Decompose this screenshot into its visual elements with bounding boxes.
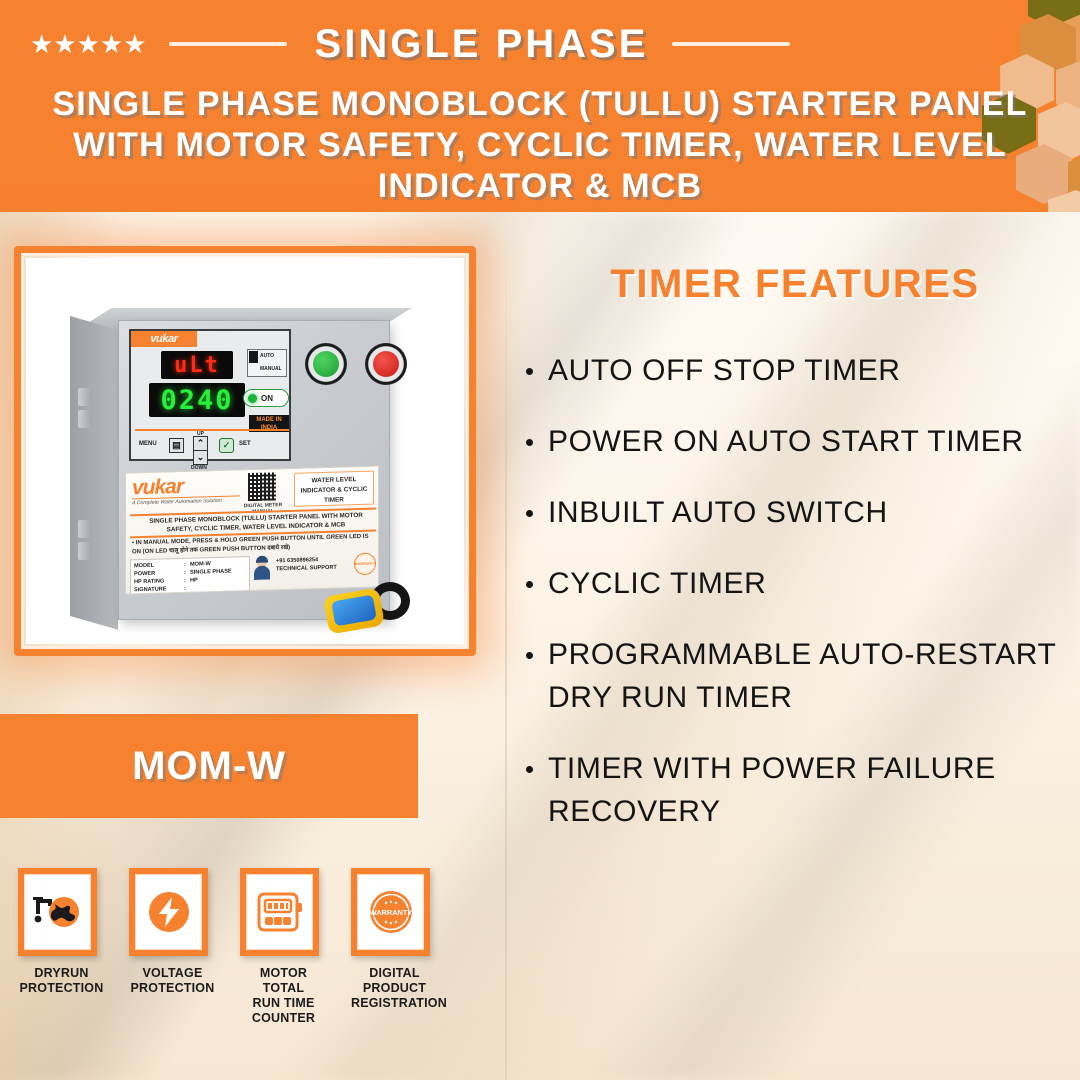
- feature-item-runtime: MOTORTOTALRUN TIMECOUNTER: [240, 868, 327, 1026]
- up-button[interactable]: ⌃: [193, 436, 208, 451]
- feature-item-registration: WARRANTY DIGITALPRODUCTREGISTRATION: [351, 868, 438, 1026]
- sticker-warranty-seal-icon: WARRANTY: [354, 553, 376, 576]
- menu-button-label: MENU: [139, 441, 157, 447]
- controller-brand-logo: vukar: [131, 331, 197, 347]
- green-led-icon: [248, 394, 257, 403]
- protection-features-row: DRYRUNPROTECTION VOLTAGEPROTECTION: [18, 868, 498, 1026]
- qr-code-icon[interactable]: [248, 472, 276, 501]
- model-name-label: MOM-W: [132, 744, 286, 789]
- on-indicator-label: ON: [261, 394, 273, 403]
- switch-knob-icon: [249, 351, 258, 363]
- list-item: CYCLIC TIMER: [520, 562, 1070, 605]
- svg-text:WARRANTY: WARRANTY: [369, 908, 412, 917]
- rating-stars-icon: ★★★★★: [30, 31, 147, 57]
- stop-push-button-red[interactable]: [365, 343, 407, 385]
- list-item: POWER ON AUTO START TIMER: [520, 420, 1070, 463]
- header-rule-left: [169, 42, 287, 46]
- runtime-label: MOTORTOTALRUN TIMECOUNTER: [240, 966, 327, 1026]
- start-push-button-green[interactable]: [305, 343, 347, 385]
- value-display-green: 0240: [149, 383, 245, 417]
- auto-manual-switch[interactable]: AUTO MANUAL: [247, 349, 287, 377]
- product-photo: vukar uLt 0240 AUTO MANUAL ON MADE IN IN…: [26, 258, 464, 644]
- feature-item-dryrun: DRYRUNPROTECTION: [18, 868, 105, 1026]
- header-rule-right: [672, 42, 790, 46]
- sticker-brand-name: vukar: [132, 474, 240, 498]
- green-button-cap-icon: [313, 351, 339, 377]
- switch-label-manual: MANUAL: [260, 366, 282, 373]
- warranty-badge-icon: WARRANTY: [367, 888, 415, 936]
- header-banner: ★★★★★ SINGLE PHASE SINGLE PHASE MONOBLOC…: [0, 0, 1080, 212]
- sticker-spec-table: MODEL:MOM-W POWER:SINGLE PHASE HP RATING…: [130, 556, 250, 594]
- float-switch-accessory: [326, 576, 412, 636]
- set-button-label: SET: [239, 441, 251, 447]
- poster-canvas: ★★★★★ SINGLE PHASE SINGLE PHASE MONOBLOC…: [0, 0, 1080, 1080]
- spec-value: HP: [190, 577, 198, 585]
- controller-faceplate: vukar uLt 0240 AUTO MANUAL ON MADE IN IN…: [129, 329, 291, 461]
- sticker-feature-badge: WATER LEVEL INDICATOR & CYCLIC TIMER: [294, 471, 374, 507]
- run-time-meter-icon: [255, 890, 305, 934]
- menu-button[interactable]: ▤: [169, 438, 184, 453]
- voltage-label: VOLTAGEPROTECTION: [129, 966, 216, 996]
- features-column: TIMER FEATURES AUTO OFF STOP TIMER POWER…: [520, 262, 1070, 861]
- support-info: +91 6350896254 TECHNICAL SUPPORT: [276, 555, 354, 573]
- dryrun-tap-globe-icon: [32, 892, 84, 932]
- down-button[interactable]: ⌄: [193, 450, 208, 465]
- controller-divider: [135, 429, 289, 431]
- set-button[interactable]: ✓: [219, 438, 234, 453]
- header-top-row: ★★★★★ SINGLE PHASE: [0, 16, 1080, 72]
- list-item: TIMER WITH POWER FAILURE RECOVERY: [520, 747, 1070, 833]
- voltage-bolt-icon: [146, 889, 192, 935]
- spec-key: SIGNATURE: [134, 585, 184, 594]
- registration-tile: WARRANTY: [351, 868, 430, 956]
- spec-colon: :: [184, 585, 190, 593]
- model-name-banner: MOM-W: [0, 714, 418, 818]
- list-item: AUTO OFF STOP TIMER: [520, 349, 1070, 392]
- support-agent-icon: [252, 555, 272, 580]
- features-list: AUTO OFF STOP TIMER POWER ON AUTO START …: [520, 349, 1070, 833]
- product-image-frame: vukar uLt 0240 AUTO MANUAL ON MADE IN IN…: [14, 246, 476, 656]
- dryrun-tile: [18, 868, 97, 956]
- column-divider: [505, 230, 507, 1080]
- support-label: TECHNICAL SUPPORT: [276, 563, 354, 573]
- table-row: SIGNATURE:: [134, 583, 246, 594]
- voltage-tile: [129, 868, 208, 956]
- controller-button-row: MENU ▤ UP ⌃ ⌄ DOWN ✓ SET: [137, 435, 287, 461]
- header-subtitle: SINGLE PHASE MONOBLOCK (TULLU) STARTER P…: [0, 84, 1080, 207]
- registration-label: DIGITALPRODUCTREGISTRATION: [351, 966, 438, 1011]
- status-display-red: uLt: [161, 351, 233, 379]
- red-button-cap-icon: [373, 351, 399, 377]
- enclosure-hinge-upper: [78, 388, 91, 406]
- list-item: PROGRAMMABLE AUTO-RESTART DRY RUN TIMER: [520, 633, 1070, 719]
- switch-label-auto: AUTO: [260, 353, 274, 360]
- header-eyebrow-title: SINGLE PHASE: [315, 22, 649, 67]
- enclosure-hinge-lower-2: [78, 542, 91, 560]
- spec-value: SINGLE PHASE: [190, 568, 232, 577]
- enclosure-front-door: vukar uLt 0240 AUTO MANUAL ON MADE IN IN…: [118, 320, 390, 620]
- enclosure-side-face: [70, 316, 118, 630]
- runtime-tile: [240, 868, 319, 956]
- sticker-logo: vukar A Complete Water Automation Soluti…: [132, 474, 240, 506]
- dryrun-label: DRYRUNPROTECTION: [18, 966, 105, 996]
- power-on-indicator: ON: [243, 389, 289, 407]
- features-title: TIMER FEATURES: [520, 262, 1070, 307]
- list-item: INBUILT AUTO SWITCH: [520, 491, 1070, 534]
- enclosure-hinge-lower: [78, 520, 91, 538]
- enclosure-hinge-upper-2: [78, 410, 91, 428]
- feature-item-voltage: VOLTAGEPROTECTION: [129, 868, 216, 1026]
